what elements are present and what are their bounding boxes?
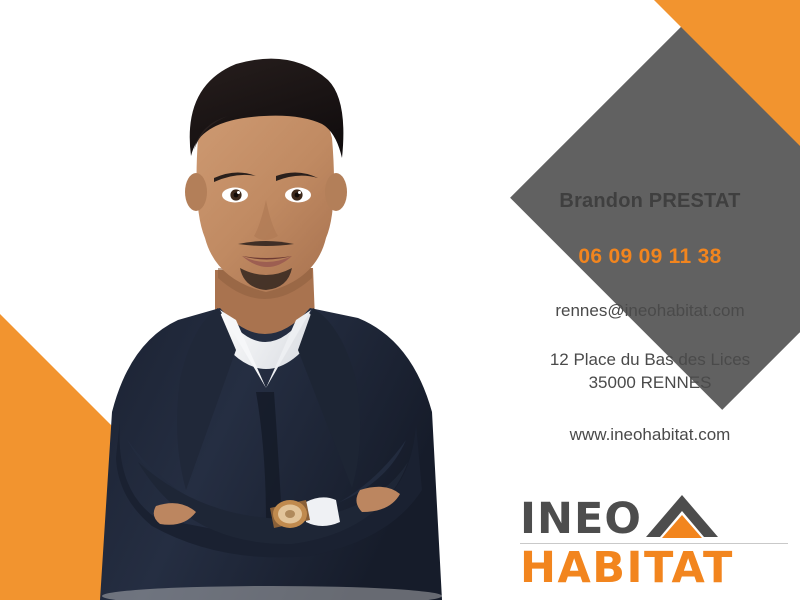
contact-address: 12 Place du Bas des Lices 35000 RENNES — [500, 349, 800, 395]
gray-diagonal-mask — [597, 0, 800, 128]
business-card: Brandon PRESTAT 06 09 09 11 38 rennes@in… — [0, 0, 800, 600]
orange-corner-top-right-decoration — [652, 0, 800, 148]
company-logo: INEO HABITAT — [520, 492, 780, 592]
contact-name: Brandon PRESTAT — [500, 190, 800, 213]
logo-top-row: INEO — [520, 492, 780, 540]
address-line-2: 35000 RENNES — [500, 372, 800, 395]
logo-wordmark-ineo: INEO — [520, 499, 642, 540]
house-roof-icon — [644, 493, 720, 540]
contact-info-panel: Brandon PRESTAT 06 09 09 11 38 rennes@in… — [500, 190, 800, 445]
logo-wordmark-habitat: HABITAT — [520, 546, 780, 591]
address-line-1: 12 Place du Bas des Lices — [500, 349, 800, 372]
portrait-photo — [60, 20, 500, 600]
contact-phone[interactable]: 06 09 09 11 38 — [500, 245, 800, 269]
contact-email[interactable]: rennes@ineohabitat.com — [500, 301, 800, 321]
contact-website[interactable]: www.ineohabitat.com — [500, 425, 800, 445]
